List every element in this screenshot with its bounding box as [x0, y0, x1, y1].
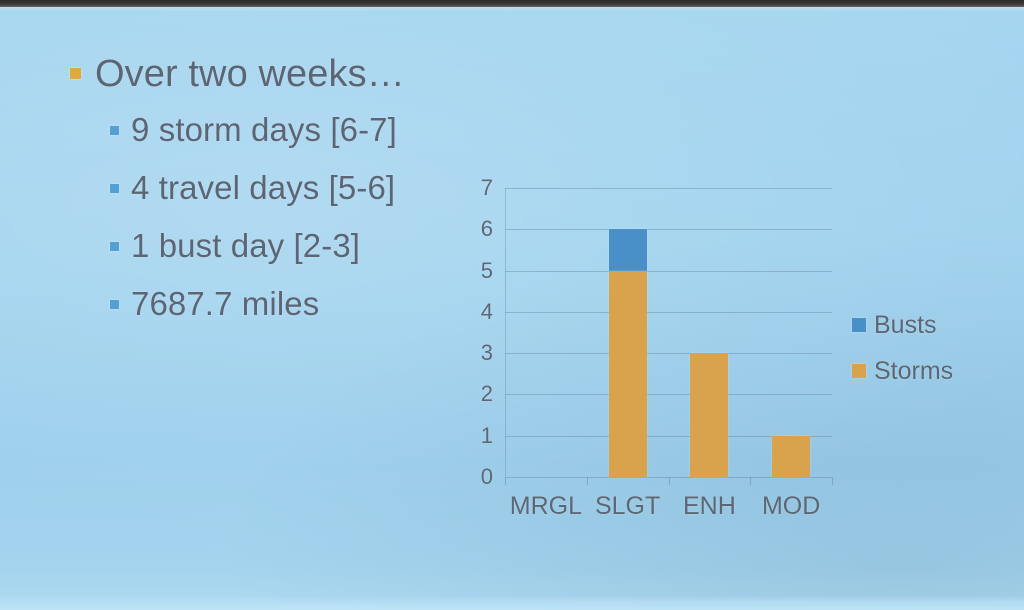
- gridline: [505, 394, 832, 395]
- bullet-item-4: 7687.7 miles: [110, 276, 490, 332]
- gridline: [505, 271, 832, 272]
- x-axis-tick-label-slgt: SLGT: [587, 493, 669, 519]
- y-axis-tick-label: 5: [449, 260, 493, 282]
- bullet-text-0: Over two weeks…: [95, 52, 405, 96]
- gridline: [505, 353, 832, 354]
- slide-bullet-list: Over two weeks… 9 storm days [6-7] 4 tra…: [70, 52, 490, 334]
- bullet-text-3: 1 bust day [2-3]: [131, 218, 360, 274]
- x-axis-tick-mark: [750, 477, 751, 485]
- x-axis-tick-mark: [505, 477, 506, 485]
- y-axis-tick-label: 4: [449, 301, 493, 323]
- square-bullet-blue-icon: [110, 126, 119, 135]
- legend-item-busts: Busts: [852, 312, 953, 338]
- screen-bezel-glint: [0, 7, 1024, 14]
- gridline: [505, 312, 832, 313]
- square-bullet-orange-icon: [70, 68, 81, 79]
- bar-mod: [772, 436, 810, 477]
- bar-segment-storms: [772, 436, 810, 477]
- bullet-text-2: 4 travel days [5-6]: [131, 160, 395, 216]
- y-axis-tick-label: 3: [449, 342, 493, 364]
- y-axis-tick-label: 0: [449, 466, 493, 488]
- y-axis-tick-label: 7: [449, 177, 493, 199]
- bar-segment-storms: [690, 353, 728, 477]
- bar-segment-busts: [609, 229, 647, 270]
- square-bullet-blue-icon: [110, 242, 119, 251]
- y-axis-tick-label: 2: [449, 383, 493, 405]
- bar-enh: [690, 353, 728, 477]
- x-axis-tick-mark: [669, 477, 670, 485]
- bar-slgt: [609, 229, 647, 477]
- legend-swatch-storms: [852, 364, 866, 378]
- bullet-item-0: Over two weeks…: [70, 52, 490, 96]
- stacked-bar-chart: 01234567 MRGLSLGTENHMOD BustsStorms: [452, 172, 992, 528]
- y-axis-tick-label: 6: [449, 218, 493, 240]
- x-axis-tick-mark: [587, 477, 588, 485]
- chart-legend: BustsStorms: [852, 312, 953, 404]
- x-axis-tick-label-mod: MOD: [750, 493, 832, 519]
- x-axis-tick-label-enh: ENH: [669, 493, 751, 519]
- bullet-text-4: 7687.7 miles: [131, 276, 319, 332]
- projected-slide-photo: Over two weeks… 9 storm days [6-7] 4 tra…: [0, 0, 1024, 610]
- y-axis-tick-label: 1: [449, 425, 493, 447]
- legend-swatch-busts: [852, 318, 866, 332]
- bullet-text-1: 9 storm days [6-7]: [131, 102, 397, 158]
- bar-segment-storms: [609, 271, 647, 477]
- legend-item-storms: Storms: [852, 358, 953, 384]
- chart-plot-area: 01234567: [505, 188, 832, 477]
- square-bullet-blue-icon: [110, 300, 119, 309]
- bullet-item-1: 9 storm days [6-7]: [110, 102, 490, 158]
- screen-bezel-bottom: [0, 596, 1024, 610]
- x-axis-tick-mark: [832, 477, 833, 485]
- y-axis-line: [505, 188, 506, 477]
- x-axis-tick-label-mrgl: MRGL: [505, 493, 587, 519]
- gridline: [505, 229, 832, 230]
- bullet-item-2: 4 travel days [5-6]: [110, 160, 490, 216]
- square-bullet-blue-icon: [110, 184, 119, 193]
- legend-label-busts: Busts: [874, 312, 937, 338]
- bullet-item-3: 1 bust day [2-3]: [110, 218, 490, 274]
- gridline: [505, 188, 832, 189]
- legend-label-storms: Storms: [874, 358, 953, 384]
